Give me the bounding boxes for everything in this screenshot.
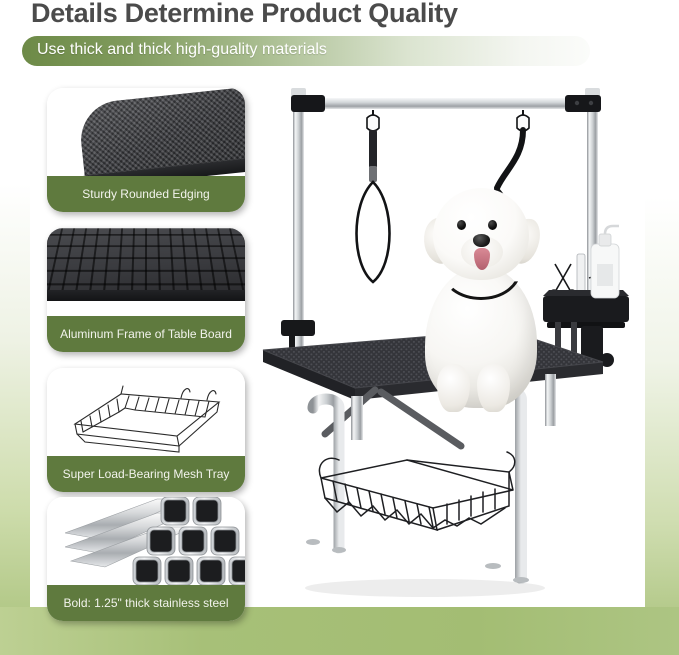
dog-eye-right bbox=[488, 220, 497, 230]
dog-front-leg-right bbox=[477, 364, 510, 412]
product-photo-grooming-table bbox=[255, 78, 655, 608]
wire-mesh-tray-image bbox=[47, 368, 245, 459]
floor-shadow bbox=[305, 579, 545, 597]
rubber-mat-corner-image bbox=[47, 88, 245, 179]
grooming-noose-left bbox=[357, 110, 390, 282]
feature-label-text: Sturdy Rounded Edging bbox=[82, 187, 209, 201]
feature-card-sturdy-rounded-edging: Sturdy Rounded Edging bbox=[47, 88, 245, 212]
dog-front-leg-left bbox=[437, 364, 470, 412]
board-edge-icon bbox=[47, 290, 245, 301]
feature-label-bar: Super Load-Bearing Mesh Tray bbox=[47, 456, 245, 492]
feature-label-text: Bold: 1.25" thick stainless steel bbox=[63, 596, 228, 610]
wire-storage-basket bbox=[319, 452, 514, 530]
feature-card-mesh-tray: Super Load-Bearing Mesh Tray bbox=[47, 368, 245, 492]
wire-tray-icon bbox=[59, 372, 235, 458]
subtitle-text: Use thick and thick high-guality materia… bbox=[37, 41, 327, 59]
infographic-page: Details Determine Product Quality Use th… bbox=[0, 0, 679, 655]
feature-label-bar: Bold: 1.25" thick stainless steel bbox=[47, 585, 245, 621]
dog-nose bbox=[473, 234, 490, 247]
subtitle-pill: Use thick and thick high-guality materia… bbox=[22, 36, 590, 66]
feature-label-bar: Sturdy Rounded Edging bbox=[47, 176, 245, 212]
bichon-frise-dog bbox=[405, 174, 555, 414]
dog-eye-left bbox=[457, 220, 466, 230]
left-gradient-edge bbox=[0, 0, 30, 655]
feature-card-stainless-steel: Bold: 1.25" thick stainless steel bbox=[47, 497, 245, 621]
feature-label-bar: Aluminum Frame of Table Board bbox=[47, 316, 245, 352]
square-steel-tubes-icon bbox=[65, 497, 245, 588]
steel-tubes-image bbox=[47, 497, 245, 588]
feature-label-text: Super Load-Bearing Mesh Tray bbox=[63, 467, 230, 481]
page-title: Details Determine Product Quality bbox=[31, 0, 458, 29]
feature-label-text: Aluminum Frame of Table Board bbox=[60, 327, 232, 341]
waffle-board-image bbox=[47, 228, 245, 319]
caddy-box bbox=[543, 296, 629, 322]
feature-card-aluminum-frame: Aluminum Frame of Table Board bbox=[47, 228, 245, 352]
